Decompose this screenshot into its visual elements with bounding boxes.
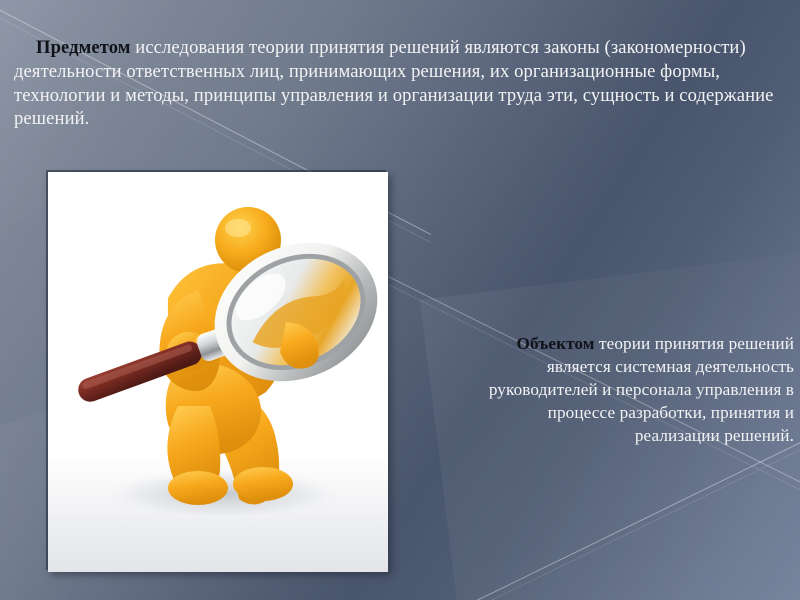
object-paragraph: Объектом теории принятия решений являетс… — [464, 333, 794, 447]
figure-with-magnifier-icon — [48, 172, 388, 572]
object-lead-word: Объектом — [517, 334, 595, 353]
presentation-slide: Предметом исследования теории принятия р… — [0, 0, 800, 600]
subject-lead-word: Предметом — [36, 37, 131, 58]
illustration-magnifier-figure — [48, 172, 388, 572]
subject-paragraph: Предметом исследования теории принятия р… — [14, 36, 786, 131]
